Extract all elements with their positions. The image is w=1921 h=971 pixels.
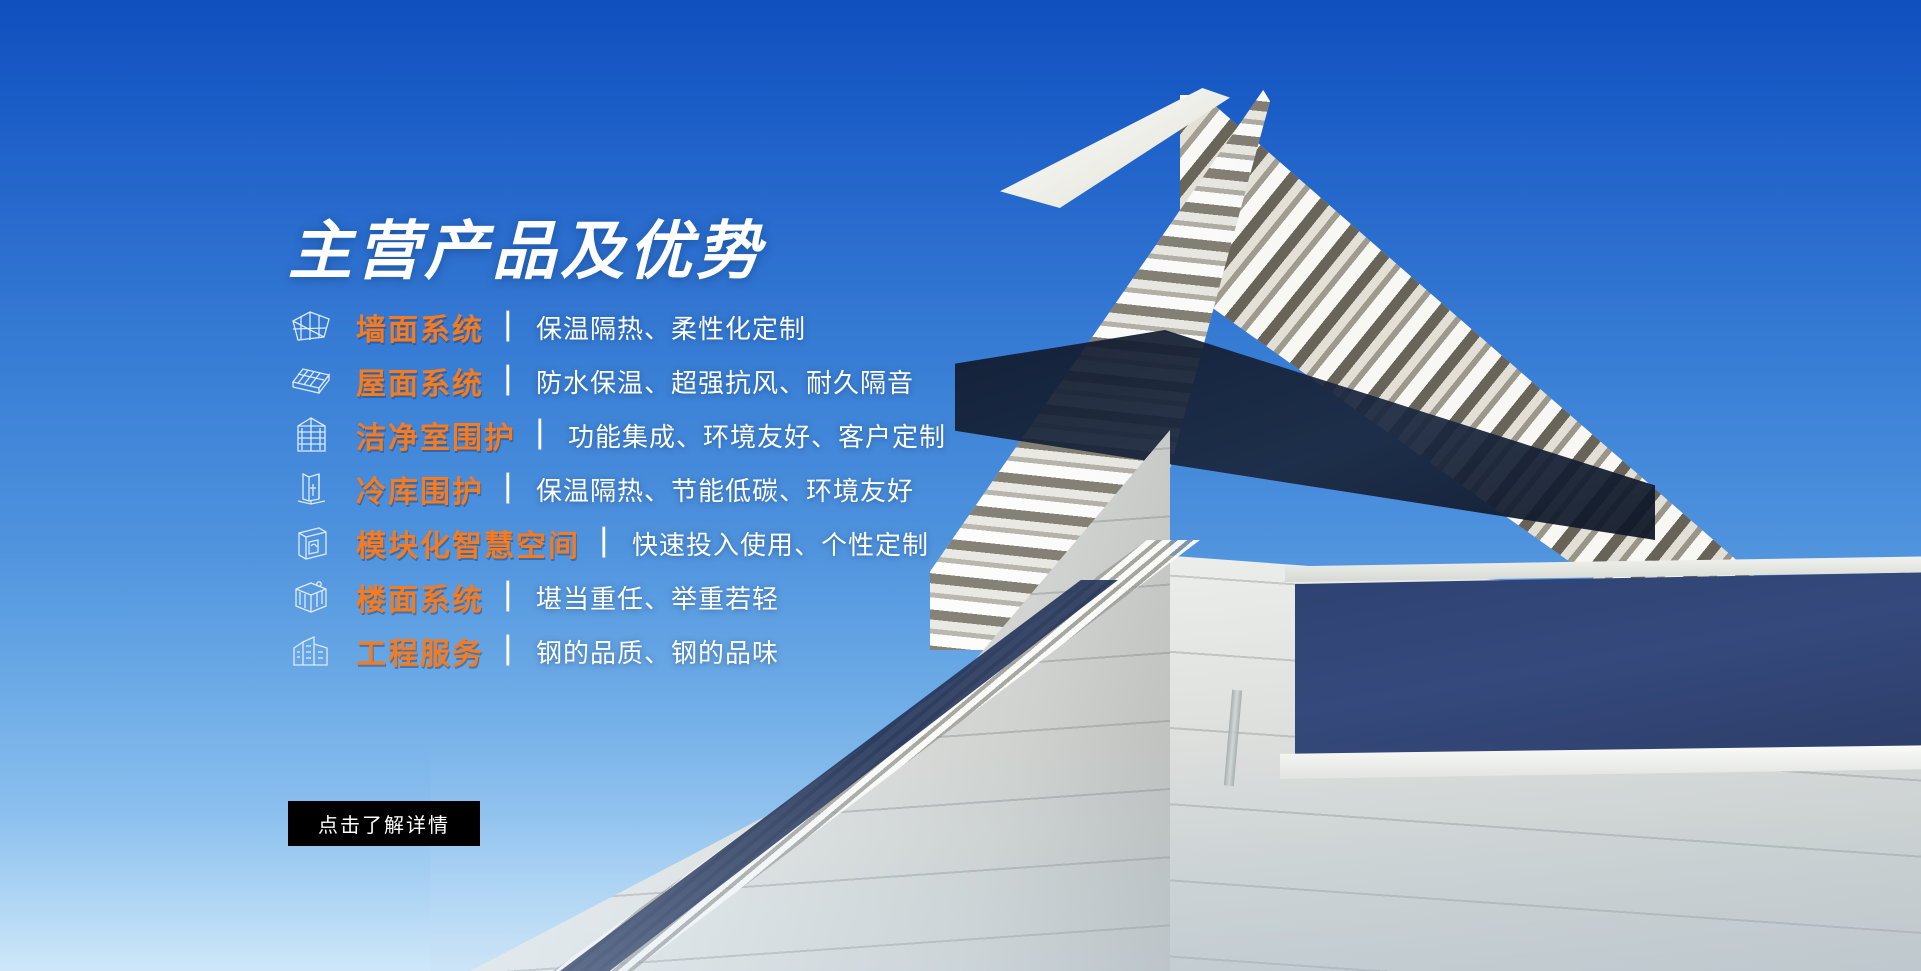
feature-item-cold-storage-envelope[interactable]: 冷库围护 ▎ 保温隔热、节能低碳、环境友好 xyxy=(288,462,1338,516)
learn-more-button[interactable]: 点击了解详情 xyxy=(288,801,480,846)
feature-title: 冷库围护 xyxy=(356,467,484,511)
engineering-service-icon xyxy=(288,631,334,671)
feature-description: 快速投入使用、个性定制 xyxy=(632,525,929,562)
cold-storage-envelope-icon xyxy=(288,469,334,509)
feature-separator: ▎ xyxy=(603,530,614,556)
feature-title: 楼面系统 xyxy=(356,575,484,619)
feature-description: 功能集成、环境友好、客户定制 xyxy=(568,417,946,454)
feature-list: 墙面系统 ▎ 保温隔热、柔性化定制 屋面系统 ▎ 防水保温、超强抗 xyxy=(288,300,1338,678)
feature-item-floor-system[interactable]: 楼面系统 ▎ 堪当重任、举重若轻 xyxy=(288,570,1338,624)
feature-item-modular-smart-space[interactable]: 模块化智慧空间 ▎ 快速投入使用、个性定制 xyxy=(288,516,1338,570)
feature-item-engineering-service[interactable]: 工程服务 ▎ 钢的品质、钢的品味 xyxy=(288,624,1338,678)
wall-system-icon xyxy=(288,307,334,347)
feature-item-cleanroom-envelope[interactable]: 洁净室围护 ▎ 功能集成、环境友好、客户定制 xyxy=(288,408,1338,462)
cleanroom-envelope-icon xyxy=(288,415,334,455)
roof-system-icon xyxy=(288,361,334,401)
feature-title: 工程服务 xyxy=(356,629,484,673)
feature-separator: ▎ xyxy=(507,584,518,610)
feature-description: 钢的品质、钢的品味 xyxy=(536,633,779,670)
feature-description: 防水保温、超强抗风、耐久隔音 xyxy=(536,363,914,400)
modular-smart-space-icon xyxy=(288,523,334,563)
feature-separator: ▎ xyxy=(507,638,518,664)
feature-description: 保温隔热、节能低碳、环境友好 xyxy=(536,471,914,508)
feature-item-roof-system[interactable]: 屋面系统 ▎ 防水保温、超强抗风、耐久隔音 xyxy=(288,354,1338,408)
learn-more-button-label: 点击了解详情 xyxy=(318,809,450,838)
feature-title: 模块化智慧空间 xyxy=(356,521,580,565)
feature-description: 堪当重任、举重若轻 xyxy=(536,579,779,616)
feature-separator: ▎ xyxy=(507,476,518,502)
floor-system-icon xyxy=(288,577,334,617)
feature-separator: ▎ xyxy=(539,422,550,448)
feature-title: 屋面系统 xyxy=(356,359,484,403)
feature-separator: ▎ xyxy=(507,314,518,340)
banner-content: 主营产品及优势 墙面系统 ▎ 保温隔热、柔性化定制 xyxy=(0,0,1921,971)
feature-title: 洁净室围护 xyxy=(356,413,516,457)
feature-description: 保温隔热、柔性化定制 xyxy=(536,309,806,346)
feature-item-wall-system[interactable]: 墙面系统 ▎ 保温隔热、柔性化定制 xyxy=(288,300,1338,354)
hero-banner: 主营产品及优势 墙面系统 ▎ 保温隔热、柔性化定制 xyxy=(0,0,1921,971)
feature-title: 墙面系统 xyxy=(356,305,484,349)
page-title: 主营产品及优势 xyxy=(288,200,764,292)
feature-separator: ▎ xyxy=(507,368,518,394)
